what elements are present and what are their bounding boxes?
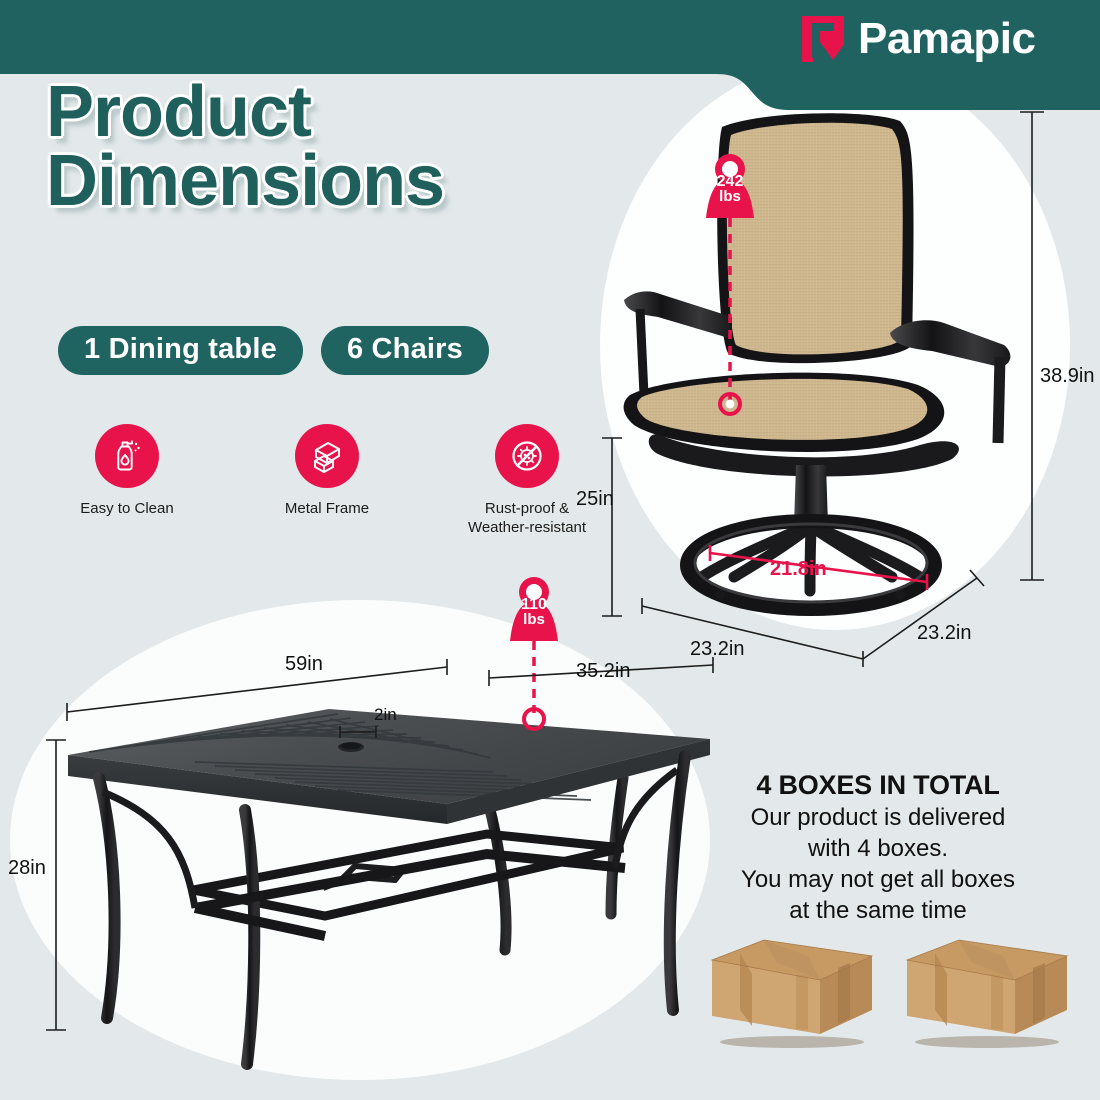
box-tape-front-right [991,974,1003,1030]
dim-ticks-chair-depth [970,570,984,586]
spray-bottle-icon [108,437,146,475]
boxes-info: 4 BOXES IN TOTAL Our product is delivere… [672,770,1084,925]
feature-icon-circle [95,424,159,488]
dim-label-table-length: 59in [285,653,323,676]
page-title: Product Dimensions [46,78,444,216]
metal-frame-icon [308,437,346,475]
dim-label-chair-depth: 23.2in [917,622,972,645]
brand-logo[interactable]: Pamapic [800,14,1035,64]
dim-line-umbrella-hole [340,726,376,738]
rust-proof-icon [508,437,546,475]
feature-icon-circle [495,424,559,488]
dim-label-chair-base-diameter: 21.8in [770,558,827,581]
box-tape-front-right [796,974,808,1030]
box-shadow [720,1036,864,1048]
feature-easy-to-clean: Easy to Clean [52,424,202,538]
boxes-line-4: at the same time [672,897,1084,925]
table-weight-unit: lbs [523,611,545,628]
boxes-line-1: Our product is delivered [672,804,1084,832]
box-tape-side [838,963,850,1024]
infographic-canvas: Pamapic Product Dimensions 1 Dining tabl… [0,0,1100,1100]
title-line-2: Dimensions [46,147,444,216]
dim-line-chair-depth [863,578,977,659]
feature-metal-frame: Metal Frame [252,424,402,538]
dim-label-chair-height: 38.9in [1040,365,1095,388]
cardboard-box [895,930,1075,1050]
dim-label-chair-seat-height: 25in [576,488,614,511]
pamapic-p-mark-icon [800,14,846,64]
brand-name: Pamapic [858,14,1035,64]
title-line-1: Product [46,78,444,147]
box-shadow [915,1036,1059,1048]
contents-pills: 1 Dining table 6 Chairs [58,326,489,375]
dim-label-table-depth: 35.2in [576,660,631,683]
feature-list: Easy to Clean Metal Frame [52,424,602,538]
boxes-line-3: You may not get all boxes [672,866,1084,894]
pill-chairs[interactable]: 6 Chairs [321,326,489,375]
boxes-line-2: with 4 boxes. [672,835,1084,863]
dim-label-umbrella-hole: 2in [374,705,397,725]
feature-icon-circle [295,424,359,488]
dim-label-table-height: 28in [8,857,46,880]
boxes-title: 4 BOXES IN TOTAL [672,770,1084,801]
cardboard-box [700,930,880,1050]
chair-dimension-lines [560,95,1100,675]
pill-dining-table[interactable]: 1 Dining table [58,326,303,375]
feature-label: Easy to Clean [52,500,202,519]
box-tape-side [1033,963,1045,1024]
table-dimension-lines [10,640,750,1060]
feature-label: Metal Frame [252,500,402,519]
